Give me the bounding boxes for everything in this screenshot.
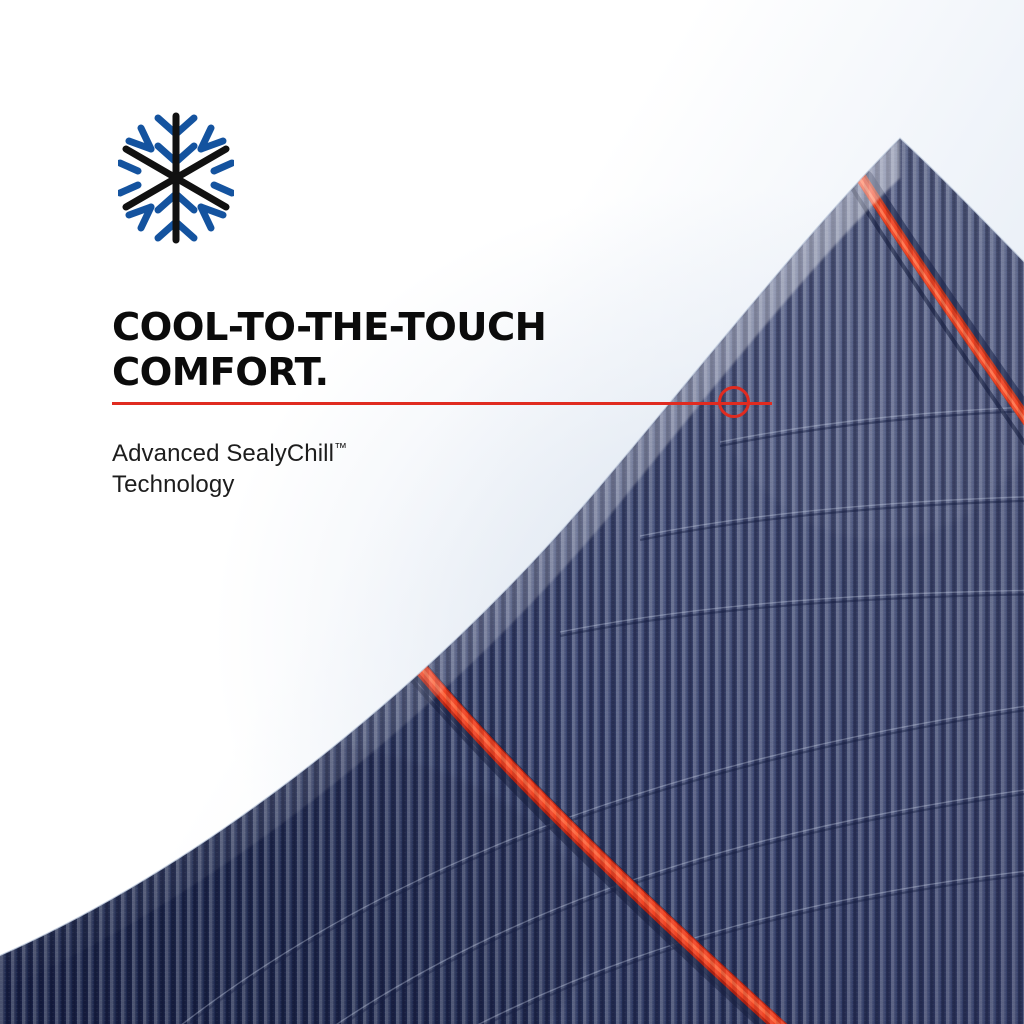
page-title: COOL-TO-THE-TOUCH COMFORT. [112, 305, 672, 395]
copy-block: COOL-TO-THE-TOUCH COMFORT. [112, 112, 672, 395]
snowflake-icon [118, 112, 234, 244]
feature-subtitle-line1: Advanced SealyChill [112, 440, 334, 467]
feature-subtitle-line2: Technology [112, 471, 234, 498]
promo-banner: COOL-TO-THE-TOUCH COMFORT. Advanced Seal… [0, 0, 1024, 1024]
red-callout-rule [112, 402, 772, 405]
trademark-symbol: ™ [334, 440, 347, 455]
feature-subtitle: Advanced SealyChill™Technology [112, 432, 347, 500]
callout-ring [718, 386, 750, 418]
callout-line-wrap [112, 402, 772, 406]
